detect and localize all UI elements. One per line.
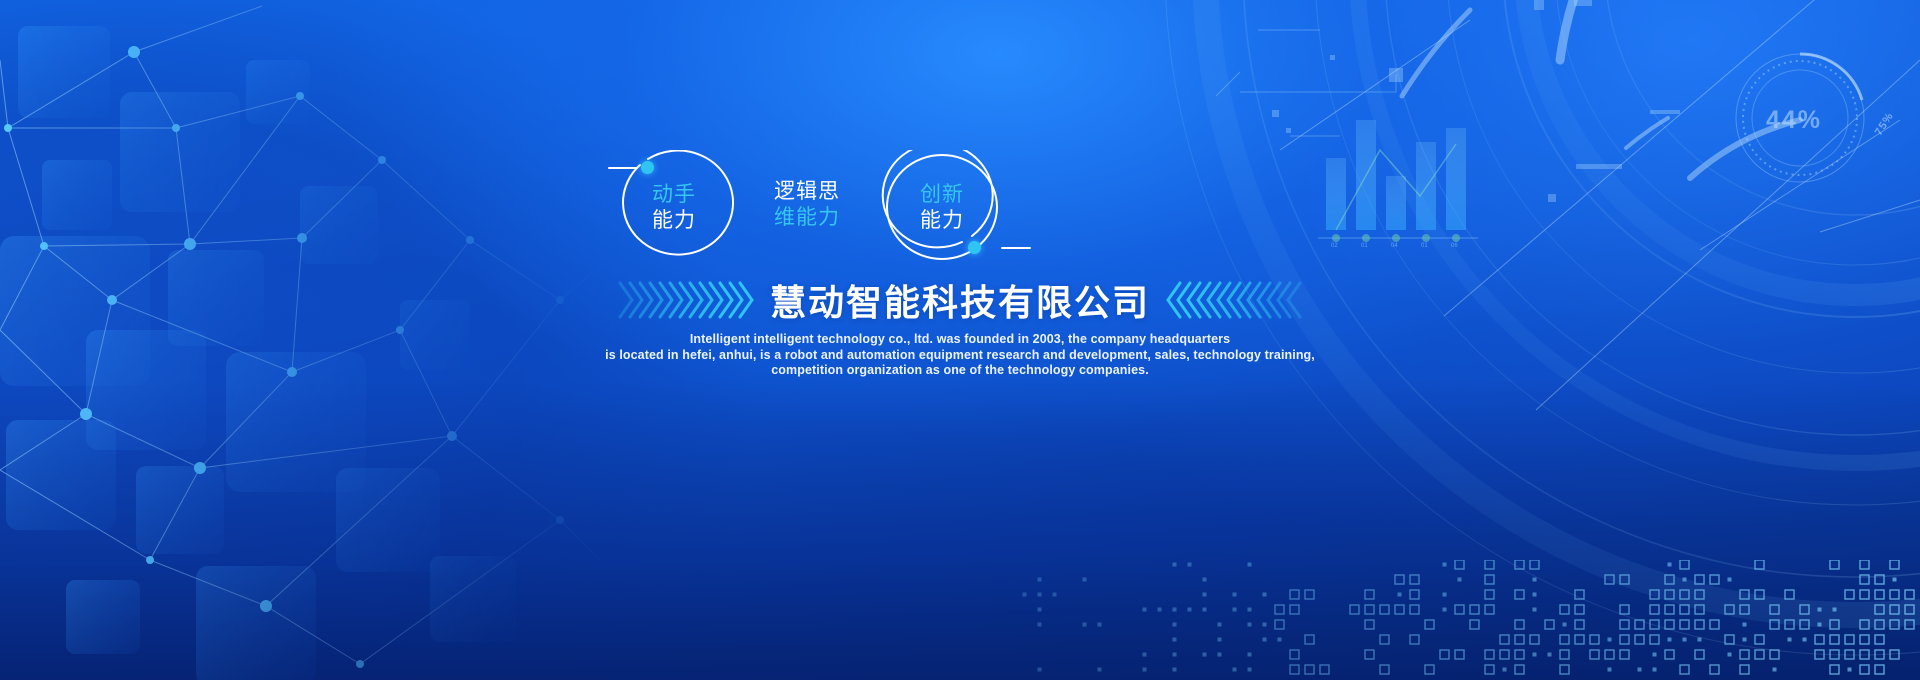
chevron-ornament-right: [1164, 277, 1304, 323]
description-line-2: is located in hefei, anhui, is a robot a…: [0, 348, 1920, 364]
capability-badge-luoji[interactable]: 逻辑思 维能力: [752, 152, 862, 257]
company-description: Intelligent intelligent technology co., …: [0, 332, 1920, 379]
badge-3-line-1: 创新: [920, 182, 964, 207]
capability-badge-dongshou[interactable]: 动手 能力: [619, 155, 729, 260]
page-title: 慧动智能科技有限公司: [770, 274, 1150, 326]
badge-3-leader-tick: [1001, 247, 1031, 249]
chevron-ornament-left: [616, 277, 756, 323]
company-title-row: 慧动智能科技有限公司: [0, 275, 1920, 325]
description-line-1: Intelligent intelligent technology co., …: [0, 332, 1920, 348]
dot-matrix-decoration: [1020, 560, 1920, 680]
hud-dial-percent: 44%: [1766, 106, 1822, 135]
capability-badge-chuangxin[interactable]: 创新 能力: [887, 155, 997, 260]
badge-2-line-2: 维能力: [774, 205, 840, 230]
badge-1-line-1: 动手: [652, 182, 696, 207]
hero-banner: 44% 75% 02 01 04 01 06 动手 能力: [0, 0, 1920, 680]
badge-1-line-2: 能力: [652, 208, 696, 233]
badge-2-line-1: 逻辑思: [774, 179, 840, 204]
capability-badge-group: 动手 能力 逻辑思 维能力 创新 能力: [0, 150, 1920, 265]
badge-3-line-2: 能力: [920, 208, 964, 233]
description-line-3: competition organization as one of the t…: [0, 363, 1920, 379]
